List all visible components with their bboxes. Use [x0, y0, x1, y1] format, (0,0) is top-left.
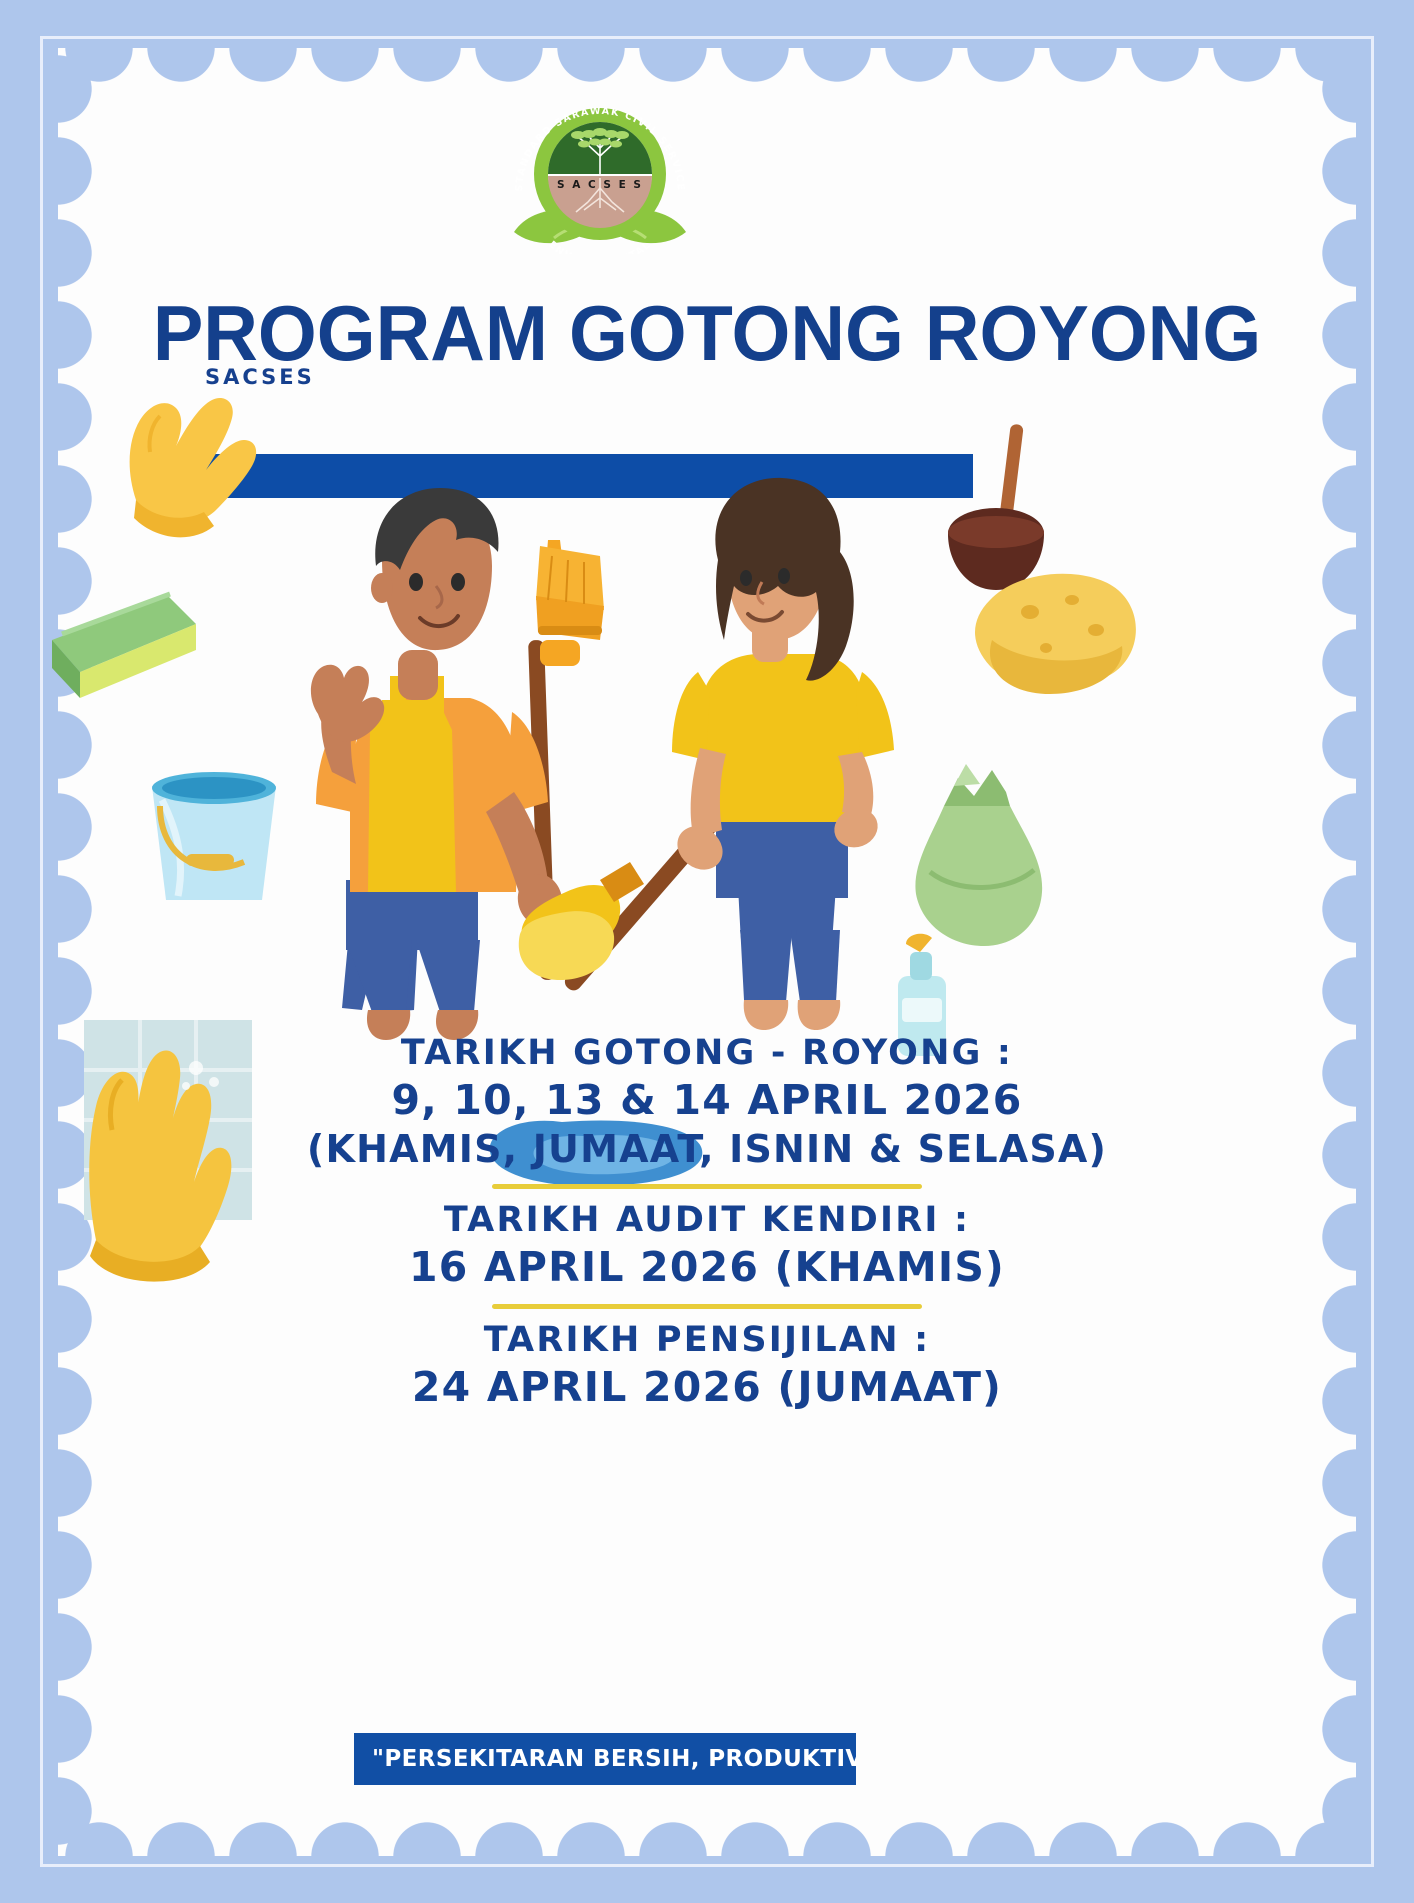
sacses-logo: S A C S E S STANDARD SARAWAK CIVIL SERVI… [492, 104, 708, 254]
cleaning-illustration [0, 0, 1414, 1903]
audit-date-label: TARIKH AUDIT KENDIRI : [0, 1199, 1414, 1242]
certification-date-label: TARIKH PENSIJILAN : [0, 1319, 1414, 1362]
decorative-blue-bar [198, 454, 973, 498]
schedule-block: TARIKH GOTONG - ROYONG : 9, 10, 13 & 14 … [0, 1032, 1414, 1413]
blue-bucket-icon [152, 772, 276, 900]
woman-with-mop-illustration [519, 478, 894, 1030]
green-garbage-bag-icon [915, 764, 1042, 946]
poster-canvas: S A C S E S STANDARD SARAWAK CIVIL SERVI… [0, 0, 1414, 1903]
divider-2 [492, 1304, 922, 1309]
logo-acronym: S A C S E S [557, 179, 643, 191]
certification-date-value: 24 APRIL 2026 (JUMAAT) [0, 1362, 1414, 1413]
toilet-plunger-icon [948, 424, 1044, 590]
divider-1 [492, 1184, 922, 1189]
yellow-sponge-icon [975, 574, 1136, 694]
gotong-royong-date-days: (KHAMIS, JUMAAT, ISNIN & SELASA) [0, 1126, 1414, 1174]
audit-date-value: 16 APRIL 2026 (KHAMIS) [0, 1242, 1414, 1293]
gotong-royong-date-value: 9, 10, 13 & 14 APRIL 2026 [0, 1075, 1414, 1126]
green-sponge-icon [52, 594, 196, 698]
page-subtitle: SACSES [205, 365, 315, 389]
boy-with-broom-illustration [311, 488, 604, 1040]
tagline-banner: "PERSEKITARAN BERSIH, PRODUKTIVITI MENIN… [354, 1733, 856, 1785]
broom-head [536, 540, 604, 666]
gotong-royong-date-label: TARIKH GOTONG - ROYONG : [0, 1032, 1414, 1075]
poster-content: S A C S E S STANDARD SARAWAK CIVIL SERVI… [0, 0, 1414, 1903]
